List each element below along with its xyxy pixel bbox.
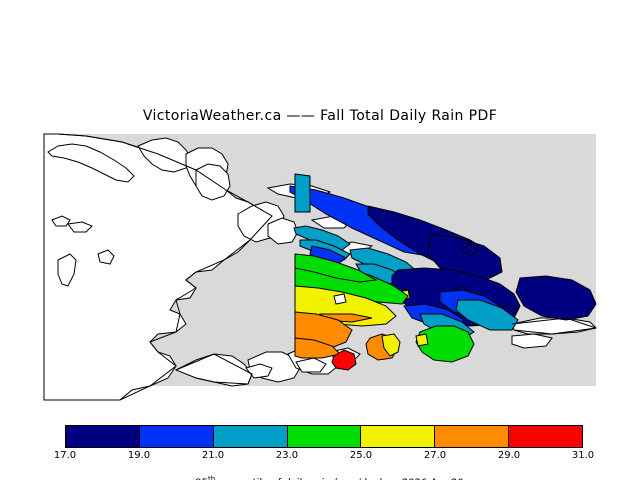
region-yellow-hole: [334, 294, 346, 304]
colorbar-band-red[interactable]: [509, 426, 582, 447]
colorbar-bands[interactable]: [65, 425, 583, 448]
colorbar-legend: 17.019.021.023.025.027.029.031.0 95th pe…: [0, 420, 640, 480]
colorbar-tick-17-0: 17.0: [54, 450, 76, 461]
colorbar-band-yellow[interactable]: [361, 426, 435, 447]
colorbar-tick-21-0: 21.0: [202, 450, 224, 461]
region-westedge-cyan[interactable]: [295, 174, 310, 212]
map-right-margin: [596, 128, 640, 413]
region-south-island-yellow-tip[interactable]: [416, 334, 428, 346]
colorbar-tick-29-0: 29.0: [498, 450, 520, 461]
weather-map-page: VictoriaWeather.ca —— Fall Total Daily R…: [0, 0, 640, 480]
map-svg: [0, 128, 640, 413]
colorbar-tick-27-0: 27.0: [424, 450, 446, 461]
colorbar-band-orange[interactable]: [435, 426, 509, 447]
page-title: VictoriaWeather.ca —— Fall Total Daily R…: [0, 108, 640, 124]
map-left-margin: [0, 128, 44, 413]
colorbar-tick-31-0: 31.0: [572, 450, 594, 461]
map-top-margin: [0, 128, 640, 134]
colorbar-tick-19-0: 19.0: [128, 450, 150, 461]
coast-central-island-b: [268, 218, 298, 244]
colorbar-tick-labels: 17.019.021.023.025.027.029.031.0: [0, 450, 640, 464]
colorbar-band-navy[interactable]: [66, 426, 140, 447]
colorbar-caption: 95th percentile of daily rain (mm/day) o…: [0, 464, 640, 480]
colorbar-tick-25-0: 25.0: [350, 450, 372, 461]
colorbar-band-green[interactable]: [288, 426, 362, 447]
colorbar-band-blue[interactable]: [140, 426, 214, 447]
map-canvas[interactable]: [0, 128, 640, 413]
colorbar-band-cyan[interactable]: [214, 426, 288, 447]
colorbar-tick-23-0: 23.0: [276, 450, 298, 461]
